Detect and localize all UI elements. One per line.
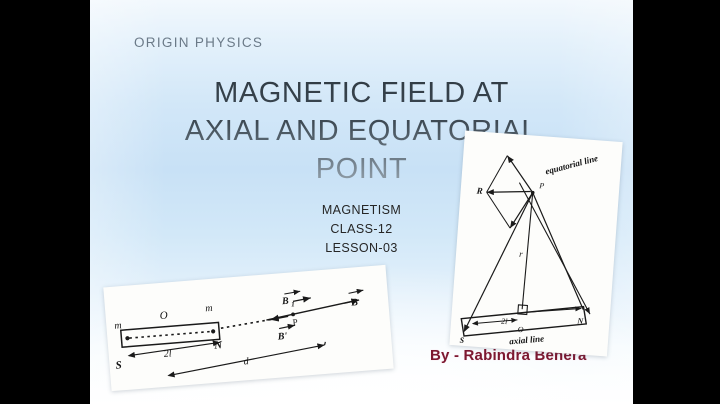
brand-label: ORIGIN PHYSICS (134, 35, 263, 50)
magnet-axis-dashes (129, 332, 211, 339)
axial-labels: m m O S N 2l d P B' B 1 B (111, 290, 363, 378)
vector-b-arrowhat (348, 290, 363, 293)
vector-down-left (510, 191, 533, 229)
label-2l: 2l (163, 348, 172, 360)
dim-on-right (532, 305, 581, 316)
dim-2l-line (473, 317, 517, 327)
equatorial-point-figure: P R r 2l O S N axial line equatorial lin… (449, 131, 622, 357)
label-m-south: m (114, 320, 122, 332)
vector-up-left (505, 156, 535, 193)
dim-2l-line (128, 342, 220, 355)
point-p-dot (291, 312, 295, 316)
vector-b1 (293, 298, 311, 301)
label-distance-r: r (519, 249, 524, 259)
label-b-resultant: B (350, 297, 359, 309)
letterbox-left (0, 0, 90, 404)
axial-point-figure: m m O S N 2l d P B' B 1 B (103, 265, 393, 391)
letterbox-right (633, 0, 720, 404)
label-south-pole: S (459, 336, 465, 345)
title-line-1: MAGNETIC FIELD AT (90, 74, 633, 112)
vector-resultant-r (487, 188, 531, 195)
label-point-p: P (292, 317, 298, 327)
parallelogram-side-upper (487, 154, 508, 193)
label-axial-line: axial line (509, 333, 544, 346)
video-slide-frame: ORIGIN PHYSICS MAGNETIC FIELD AT AXIAL A… (0, 0, 720, 404)
label-b1-subscript: 1 (291, 300, 295, 308)
parallelogram-side-lower (484, 192, 512, 228)
label-m-north: m (205, 303, 213, 315)
label-b1: B (281, 296, 290, 308)
label-2l: 2l (501, 317, 509, 326)
label-b-prime: B' (276, 331, 288, 343)
north-pole-dot (211, 329, 216, 334)
label-center-o: O (517, 325, 524, 334)
south-pole-dot (125, 336, 130, 341)
label-point-p: P (538, 181, 545, 190)
slide-canvas: ORIGIN PHYSICS MAGNETIC FIELD AT AXIAL A… (90, 0, 633, 404)
dim-d-tick (324, 342, 325, 345)
label-resultant-r: R (475, 185, 483, 195)
vector-b1-arrowhat (284, 291, 300, 294)
equatorial-labels: P R r 2l O S N axial line equatorial lin… (459, 144, 599, 354)
label-north-pole: N (213, 339, 224, 352)
label-center-o: O (159, 309, 168, 322)
label-south-pole: S (115, 359, 122, 371)
bar-magnet-body (121, 322, 220, 347)
label-equatorial-line: equatorial line (544, 153, 599, 177)
label-d: d (243, 356, 250, 367)
